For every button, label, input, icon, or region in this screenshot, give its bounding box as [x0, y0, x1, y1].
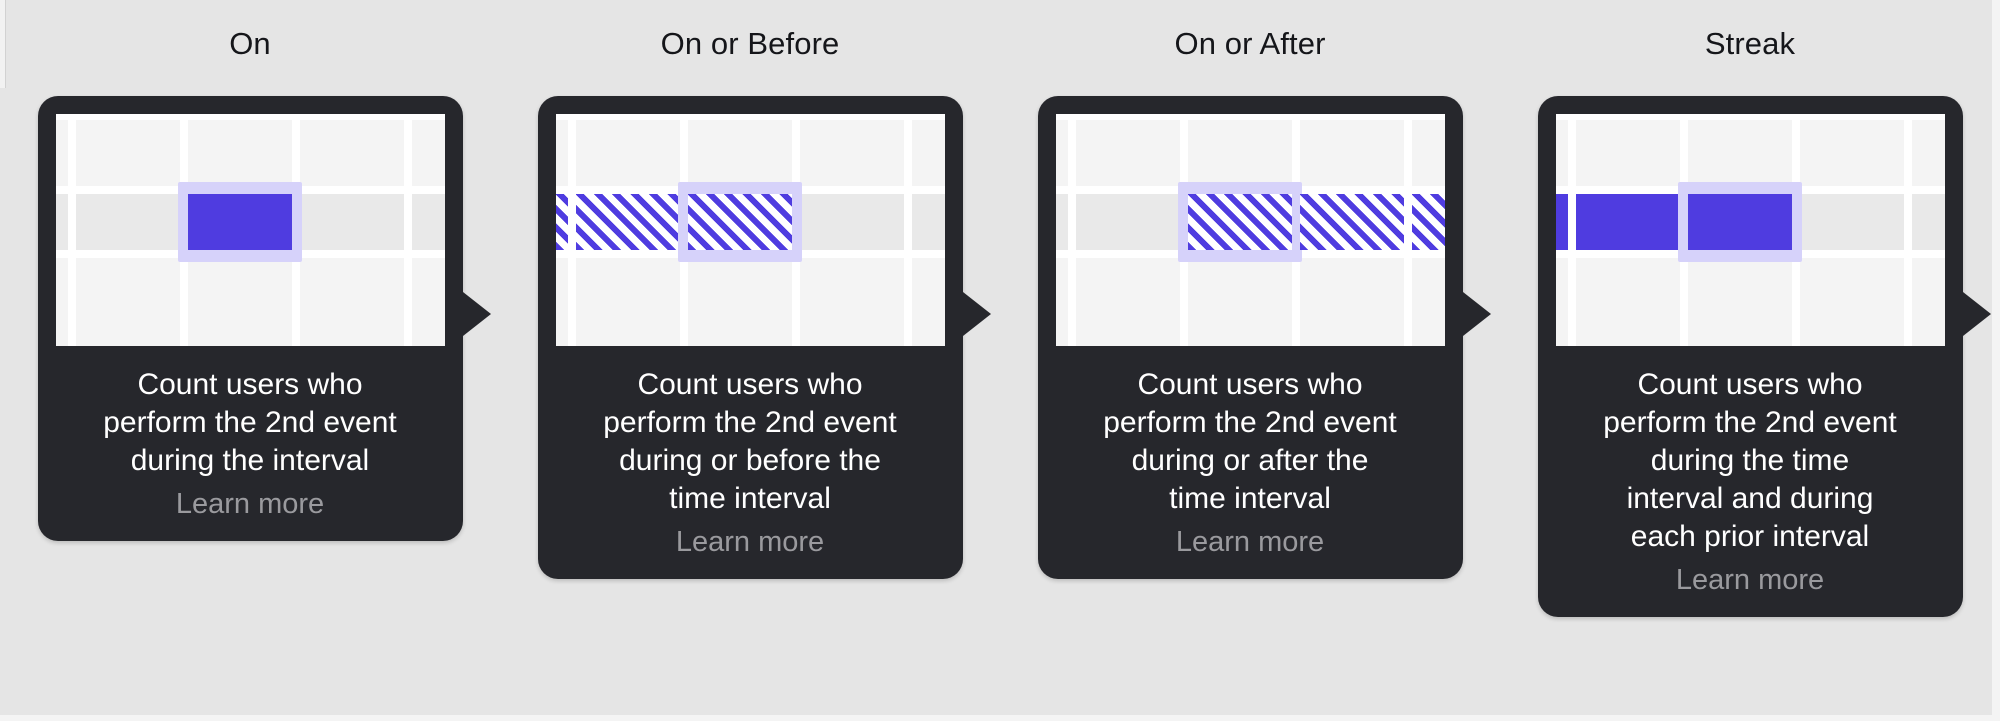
highlighted-interval	[678, 182, 802, 262]
card-on-or-after[interactable]: Count users who perform the 2nd event du…	[1038, 96, 1463, 579]
bottom-edge-rail	[0, 715, 2000, 721]
column-header-label: On	[229, 26, 271, 62]
card-arrow-icon	[463, 292, 491, 336]
chart-bars	[1556, 114, 1945, 346]
learn-more-link[interactable]: Learn more	[556, 526, 945, 559]
bar-solid	[1576, 194, 1680, 250]
comparison-panel: On On or Before On or After Streak	[0, 0, 2000, 721]
chart-on-or-before	[556, 114, 945, 346]
chart-bars	[56, 114, 445, 346]
column-header-on: On	[0, 0, 500, 88]
bar-hatched	[688, 194, 792, 250]
bar-hatched	[556, 194, 568, 250]
card-on-or-before[interactable]: Count users who perform the 2nd event du…	[538, 96, 963, 579]
chart-bars	[556, 114, 945, 346]
chart-on-or-after	[1056, 114, 1445, 346]
card-streak[interactable]: Count users who perform the 2nd event du…	[1538, 96, 1963, 617]
highlighted-interval	[1678, 182, 1802, 262]
highlighted-interval	[1178, 182, 1302, 262]
highlighted-interval	[178, 182, 302, 262]
bar-hatched	[576, 194, 680, 250]
chart-bars	[1056, 114, 1445, 346]
bar-solid	[188, 194, 292, 250]
card-description: Count users who perform the 2nd event du…	[1556, 366, 1945, 556]
learn-more-link[interactable]: Learn more	[1056, 526, 1445, 559]
card-description: Count users who perform the 2nd event du…	[56, 366, 445, 480]
card-description: Count users who perform the 2nd event du…	[1056, 366, 1445, 518]
chart-on	[56, 114, 445, 346]
learn-more-link[interactable]: Learn more	[1556, 564, 1945, 597]
column-header-streak: Streak	[1500, 0, 2000, 88]
card-on[interactable]: Count users who perform the 2nd event du…	[38, 96, 463, 541]
card-arrow-icon	[1463, 292, 1491, 336]
card-slot-on-or-after: Count users who perform the 2nd event du…	[1000, 96, 1500, 579]
card-arrow-icon	[963, 292, 991, 336]
learn-more-link[interactable]: Learn more	[56, 488, 445, 521]
column-header-label: On or After	[1175, 26, 1326, 62]
bar-solid	[1688, 194, 1792, 250]
column-header-on-or-before: On or Before	[500, 0, 1000, 88]
column-header-on-or-after: On or After	[1000, 0, 1500, 88]
bar-hatched	[1412, 194, 1445, 250]
column-header-row: On On or Before On or After Streak	[0, 0, 2000, 88]
card-slot-on: Count users who perform the 2nd event du…	[0, 96, 500, 541]
bar-hatched	[1300, 194, 1404, 250]
bar-hatched	[1188, 194, 1292, 250]
card-slot-on-or-before: Count users who perform the 2nd event du…	[500, 96, 1000, 579]
chart-streak	[1556, 114, 1945, 346]
card-description: Count users who perform the 2nd event du…	[556, 366, 945, 518]
card-row: Count users who perform the 2nd event du…	[0, 96, 2000, 617]
card-arrow-icon	[1963, 292, 1991, 336]
column-header-label: Streak	[1705, 26, 1795, 62]
column-header-label: On or Before	[661, 26, 840, 62]
card-slot-streak: Count users who perform the 2nd event du…	[1500, 96, 2000, 617]
bar-solid	[1556, 194, 1568, 250]
